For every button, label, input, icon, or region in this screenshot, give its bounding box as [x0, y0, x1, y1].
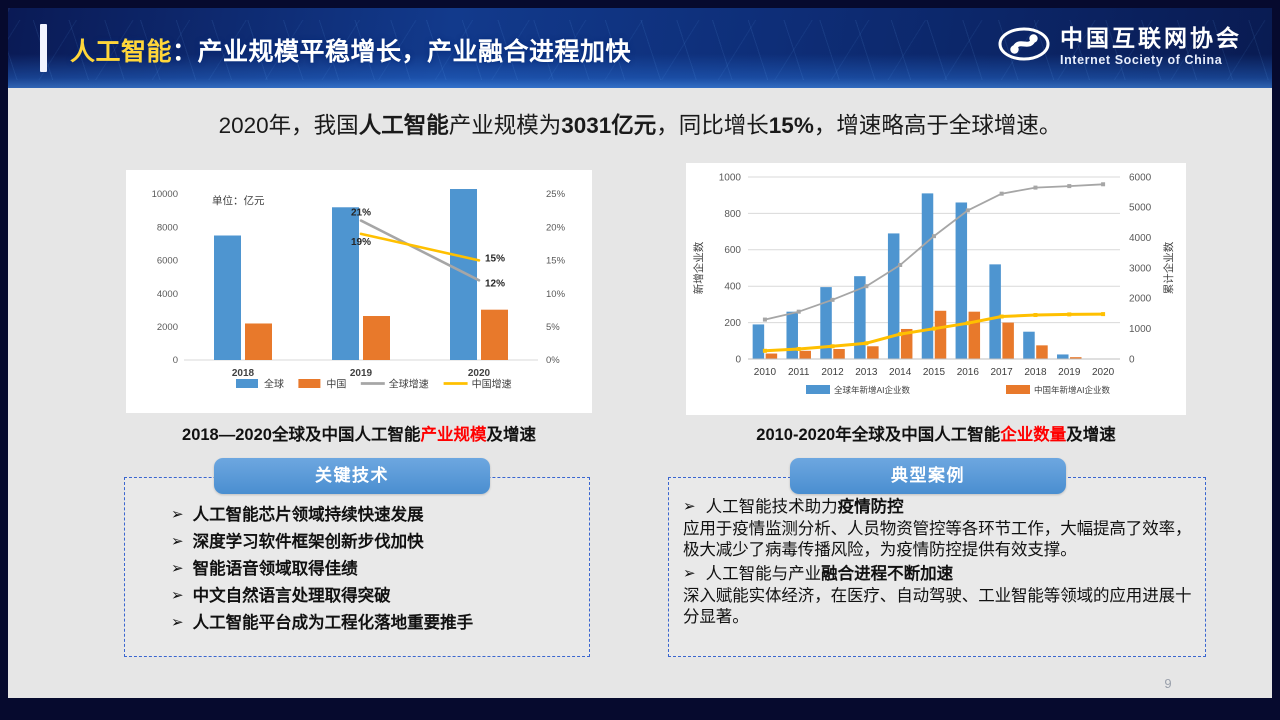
legend-swatch-全球年新增AI企业数	[806, 385, 830, 394]
bar-中国年新增AI企业数	[867, 346, 879, 359]
line-marker-全球累计AI企业数	[1033, 186, 1037, 190]
line-marker-中国累计AI企业数	[1101, 312, 1105, 316]
y-axis-tick-label: 200	[724, 318, 741, 329]
y-axis-tick-label: 1000	[719, 172, 742, 183]
line-marker-全球累计AI企业数	[966, 208, 970, 212]
x-axis-tick-label: 2013	[855, 367, 878, 378]
data-label-china-2019: 19%	[351, 237, 371, 248]
y-axis-title: 新增企业数	[692, 241, 705, 294]
caption-enterprise-count: 2010-2020年全球及中国人工智能企业数量及增速	[686, 421, 1186, 445]
y-axis-tick-label: 4000	[157, 289, 178, 300]
chart-industry-scale: 02000400060008000100000%5%10%15%20%25%单位…	[126, 170, 592, 413]
list-item: ➢人工智能芯片领域持续快速发展	[171, 506, 579, 524]
bar-全球年新增AI企业数	[956, 202, 968, 359]
line-全球累计AI企业数	[765, 184, 1103, 319]
frame-top-edge	[0, 0, 1280, 8]
isc-swirl-icon	[998, 26, 1050, 67]
list-item: ➢智能语音领域取得佳绩	[171, 560, 579, 578]
line-marker-中国累计AI企业数	[932, 327, 936, 331]
data-label-china-2020: 15%	[485, 253, 505, 264]
page-title-rest: ：产业规模平稳增长，产业融合进程加快	[172, 38, 631, 66]
y2-axis-tick-label: 1000	[1129, 324, 1152, 335]
bar-全球	[214, 236, 241, 361]
y2-axis-tick-label: 0%	[546, 355, 560, 366]
key-technologies-tab[interactable]: 关键技术	[214, 458, 490, 494]
x-axis-tick-label: 2018	[1024, 367, 1047, 378]
headline-bold-value: 3031亿元	[561, 113, 656, 138]
headline-part-2: 产业规模为	[449, 113, 562, 138]
key-technologies-list: ➢人工智能芯片领域持续快速发展➢深度学习软件框架创新步伐加快➢智能语音领域取得佳…	[171, 506, 579, 641]
headline-part-3: ，同比增长	[656, 113, 769, 138]
y2-axis-tick-label: 15%	[546, 256, 566, 267]
list-item: ➢中文自然语言处理取得突破	[171, 587, 579, 605]
frame-bottom-edge	[0, 698, 1280, 720]
caption-industry-scale: 2018—2020全球及中国人工智能产业规模及增速	[126, 421, 592, 445]
headline-bold-ai: 人工智能	[359, 113, 449, 138]
x-axis-tick-label: 2019	[1058, 367, 1081, 378]
chart-enterprise-count: 0200400600800100001000200030004000500060…	[686, 163, 1186, 415]
x-axis-tick-label: 2018	[232, 368, 255, 379]
bullet-arrow-icon: ➢	[171, 560, 184, 578]
y2-axis-title: 累计企业数	[1162, 241, 1175, 294]
page-title: 人工智能：产业规模平稳增长，产业融合进程加快	[70, 32, 631, 68]
bullet-arrow-icon: ➢	[171, 587, 184, 605]
bullet-arrow-icon: ➢	[683, 565, 696, 583]
y-axis-tick-label: 800	[724, 209, 741, 220]
data-label-global-2019: 21%	[351, 208, 371, 219]
line-marker-中国累计AI企业数	[864, 341, 868, 345]
typical-cases-panel: ➢人工智能技术助力疫情防控应用于疫情监测分析、人员物资管控等各环节工作，大幅提高…	[668, 477, 1206, 657]
typical-cases-tab[interactable]: 典型案例	[790, 458, 1066, 494]
x-axis-tick-label: 2010	[754, 367, 777, 378]
bar-全球	[450, 189, 477, 360]
headline-part-4: ，增速略高于全球增速。	[814, 113, 1062, 138]
caption-left-post: 及增速	[486, 426, 536, 444]
bar-全球	[332, 207, 359, 360]
y2-axis-tick-label: 6000	[1129, 172, 1152, 183]
line-marker-全球累计AI企业数	[864, 284, 868, 288]
case-heading-normal: 人工智能与产业	[706, 565, 822, 583]
bar-中国	[481, 310, 508, 360]
logo-text-block: 中国互联网协会 Internet Society of China	[1060, 27, 1242, 67]
caption-right-post: 及增速	[1066, 426, 1116, 444]
line-marker-中国累计AI企业数	[1000, 315, 1004, 319]
bar-中国	[245, 323, 272, 360]
y2-axis-tick-label: 20%	[546, 222, 566, 233]
y-axis-tick-label: 0	[735, 354, 741, 365]
case-body-text: 应用于疫情监测分析、人员物资管控等各环节工作，大幅提高了效率，极大减少了病毒传播…	[683, 519, 1193, 561]
key-technologies-panel: ➢人工智能芯片领域持续快速发展➢深度学习软件框架创新步伐加快➢智能语音领域取得佳…	[124, 477, 590, 657]
y2-axis-tick-label: 5000	[1129, 203, 1152, 214]
list-item-label: 人工智能芯片领域持续快速发展	[193, 506, 424, 524]
line-marker-中国累计AI企业数	[898, 332, 902, 336]
line-marker-中国累计AI企业数	[1033, 313, 1037, 317]
chart-unit-note: 单位：亿元	[212, 194, 265, 207]
y2-axis-tick-label: 10%	[546, 289, 566, 300]
legend-label-中国: 中国	[326, 378, 346, 391]
legend-swatch-全球	[236, 379, 258, 388]
list-item-label: 深度学习软件框架创新步伐加快	[193, 533, 424, 551]
x-axis-tick-label: 2012	[821, 367, 844, 378]
legend-label-全球年新增AI企业数: 全球年新增AI企业数	[834, 385, 911, 395]
organization-logo: 中国互联网协会 Internet Society of China	[998, 26, 1242, 67]
bar-全球年新增AI企业数	[1023, 332, 1035, 359]
line-marker-中国累计AI企业数	[966, 321, 970, 325]
y-axis-tick-label: 400	[724, 282, 741, 293]
bar-全球年新增AI企业数	[922, 193, 934, 359]
y-axis-tick-label: 600	[724, 245, 741, 256]
y-axis-tick-label: 10000	[152, 189, 178, 200]
bar-中国年新增AI企业数	[766, 354, 778, 359]
line-marker-全球累计AI企业数	[831, 298, 835, 302]
legend-label-中国增速: 中国增速	[472, 378, 512, 391]
bullet-arrow-icon: ➢	[683, 498, 696, 516]
caption-left-pre: 2018—2020全球及中国人工智能	[182, 426, 420, 444]
bullet-arrow-icon: ➢	[171, 506, 184, 524]
bar-全球年新增AI企业数	[888, 233, 900, 359]
y-axis-tick-label: 0	[173, 355, 178, 366]
bar-中国年新增AI企业数	[799, 351, 811, 359]
line-marker-中国累计AI企业数	[797, 347, 801, 351]
line-marker-中国累计AI企业数	[831, 344, 835, 348]
case-heading-bold: 融合进程不断加速	[821, 565, 953, 583]
case-heading: ➢人工智能与产业融合进程不断加速	[683, 565, 1193, 585]
line-marker-中国累计AI企业数	[763, 349, 767, 353]
legend-swatch-中国	[298, 379, 320, 388]
caption-left-highlight: 产业规模	[420, 426, 486, 444]
y-axis-tick-label: 6000	[157, 256, 178, 267]
typical-cases-list: ➢人工智能技术助力疫情防控应用于疫情监测分析、人员物资管控等各环节工作，大幅提高…	[683, 498, 1193, 632]
line-marker-全球累计AI企业数	[763, 318, 767, 322]
case-heading-bold: 疫情防控	[838, 498, 904, 516]
case-heading-normal: 人工智能技术助力	[706, 498, 838, 516]
bar-全球年新增AI企业数	[753, 324, 765, 359]
x-axis-tick-label: 2017	[991, 367, 1014, 378]
caption-right-pre: 2010-2020年全球及中国人工智能	[756, 426, 1000, 444]
bar-中国年新增AI企业数	[1002, 323, 1014, 359]
legend-label-中国年新增AI企业数: 中国年新增AI企业数	[1034, 385, 1111, 395]
legend-swatch-中国年新增AI企业数	[1006, 385, 1030, 394]
line-marker-全球累计AI企业数	[1000, 192, 1004, 196]
line-marker-全球累计AI企业数	[1101, 182, 1105, 186]
y-axis-tick-label: 8000	[157, 222, 178, 233]
bar-全球年新增AI企业数	[989, 264, 1001, 359]
bar-全球年新增AI企业数	[786, 312, 798, 359]
x-axis-tick-label: 2020	[1092, 367, 1115, 378]
x-axis-tick-label: 2011	[788, 367, 810, 378]
case-heading: ➢人工智能技术助力疫情防控	[683, 498, 1193, 518]
slide-root: 人工智能：产业规模平稳增长，产业融合进程加快 中国互联网协会 Internet …	[0, 0, 1280, 720]
x-axis-tick-label: 2014	[889, 367, 912, 378]
legend-label-全球增速: 全球增速	[389, 378, 429, 391]
page-title-highlight: 人工智能	[70, 38, 172, 66]
y2-axis-tick-label: 3000	[1129, 263, 1152, 274]
x-axis-tick-label: 2020	[468, 368, 491, 379]
legend-label-全球: 全球	[264, 378, 284, 391]
x-axis-tick-label: 2019	[350, 368, 373, 379]
slide-number: 9	[1155, 676, 1181, 691]
headline-part-1: 2020年，我国	[219, 113, 359, 138]
list-item-label: 中文自然语言处理取得突破	[193, 587, 391, 605]
y2-axis-tick-label: 25%	[546, 189, 566, 200]
bullet-arrow-icon: ➢	[171, 533, 184, 551]
case-body-text: 深入赋能实体经济，在医疗、自动驾驶、工业智能等领域的应用进展十分显著。	[683, 586, 1193, 628]
line-marker-全球累计AI企业数	[1067, 184, 1071, 188]
line-marker-全球累计AI企业数	[898, 263, 902, 267]
x-axis-tick-label: 2016	[957, 367, 980, 378]
list-item-label: 人工智能平台成为工程化落地重要推手	[193, 614, 474, 632]
list-item-label: 智能语音领域取得佳绩	[193, 560, 358, 578]
bar-全球年新增AI企业数	[1057, 354, 1069, 359]
case-heading-text: 人工智能技术助力疫情防控	[706, 498, 904, 518]
y2-axis-tick-label: 0	[1129, 354, 1135, 365]
line-marker-中国累计AI企业数	[1067, 312, 1071, 316]
bar-中国年新增AI企业数	[935, 311, 947, 359]
bar-中国	[363, 316, 390, 360]
headline-statement: 2020年，我国人工智能产业规模为3031亿元，同比增长15%，增速略高于全球增…	[0, 108, 1280, 140]
logo-chinese-name: 中国互联网协会	[1060, 27, 1242, 50]
bar-中国年新增AI企业数	[969, 312, 981, 359]
headline-bold-growth: 15%	[769, 113, 814, 138]
line-marker-全球累计AI企业数	[932, 234, 936, 238]
bar-中国年新增AI企业数	[833, 349, 845, 359]
bullet-arrow-icon: ➢	[171, 614, 184, 632]
line-中国累计AI企业数	[765, 314, 1103, 351]
bar-中国年新增AI企业数	[1036, 345, 1048, 359]
y2-axis-tick-label: 2000	[1129, 294, 1152, 305]
slide-header-banner: 人工智能：产业规模平稳增长，产业融合进程加快 中国互联网协会 Internet …	[8, 8, 1272, 88]
y2-axis-tick-label: 5%	[546, 322, 560, 333]
logo-english-name: Internet Society of China	[1060, 54, 1242, 67]
x-axis-tick-label: 2015	[923, 367, 946, 378]
data-label-global-2020: 12%	[485, 278, 505, 289]
y2-axis-tick-label: 4000	[1129, 233, 1152, 244]
y-axis-tick-label: 2000	[157, 322, 178, 333]
list-item: ➢人工智能平台成为工程化落地重要推手	[171, 614, 579, 632]
line-marker-全球累计AI企业数	[797, 310, 801, 314]
title-accent-bar	[40, 24, 47, 72]
case-heading-text: 人工智能与产业融合进程不断加速	[706, 565, 954, 585]
list-item: ➢深度学习软件框架创新步伐加快	[171, 533, 579, 551]
caption-right-highlight: 企业数量	[1000, 426, 1066, 444]
